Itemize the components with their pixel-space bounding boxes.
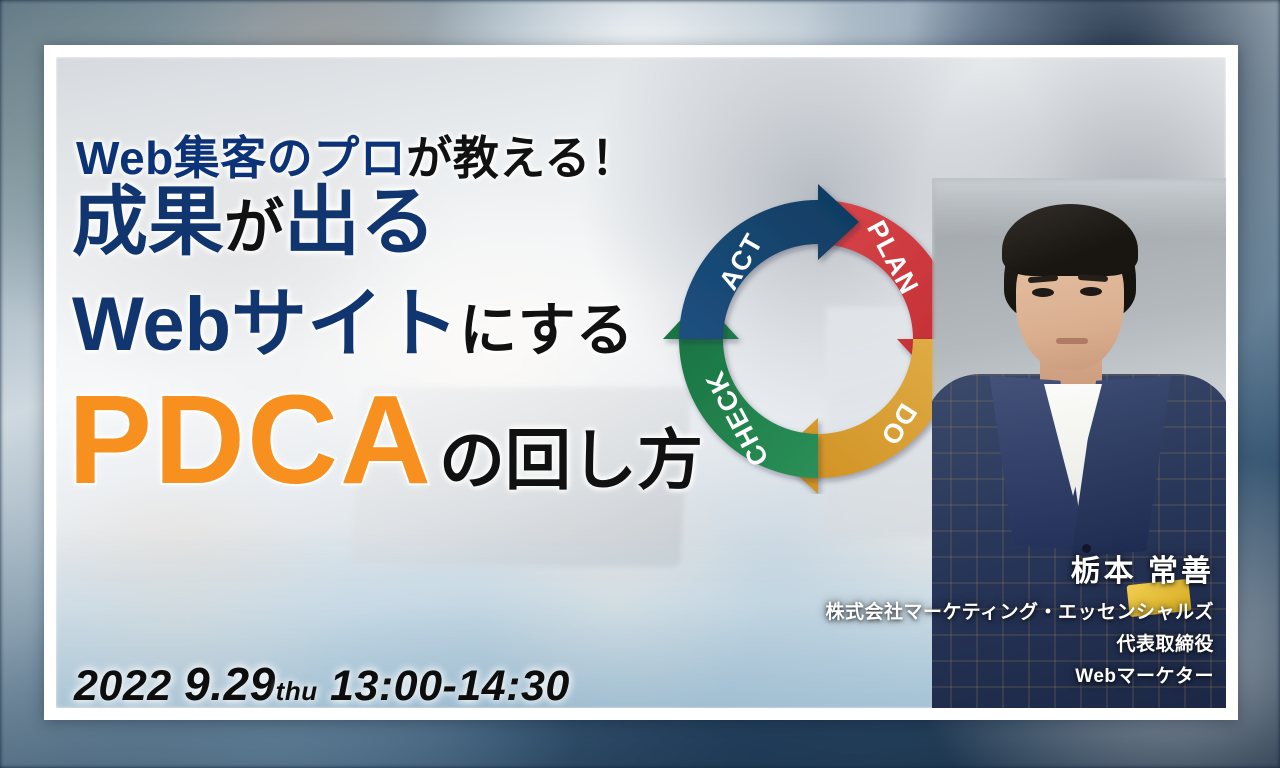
speaker-caption: 栃本 常善 株式会社マーケティング・エッセンシャルズ 代表取締役 Webマーケタ… — [826, 546, 1214, 688]
title-line2-blue2: 出る — [284, 180, 436, 265]
title-line2-blue: 成果 — [72, 180, 224, 265]
pdca-suffix: の回し方 — [439, 423, 703, 497]
date-day-of-week: thu — [276, 676, 318, 706]
title-line2-black: が — [224, 194, 284, 261]
event-date-time: 2022 9.29thu 13:00-14:30 — [74, 657, 570, 708]
title-line3-blue: Webサイト — [72, 282, 459, 367]
date-year: 2022 — [74, 662, 172, 708]
title-line3-black: にする — [459, 298, 634, 363]
title-line-2: 成果が出る — [72, 185, 436, 261]
speaker-eye-right — [1080, 287, 1102, 296]
pdca-keyword: PDCA — [68, 369, 433, 510]
speaker-name: 栃本 常善 — [826, 546, 1214, 590]
speaker-mouth — [1056, 338, 1088, 344]
speaker-role-secondary: Webマーケター — [826, 661, 1214, 688]
title-line-3: Webサイトにする — [72, 287, 634, 363]
date-time-range: 13:00-14:30 — [330, 662, 570, 708]
pdca-segment-act — [679, 184, 859, 339]
pdca-cycle-diagram: PLAN DO CHECK ACT — [663, 184, 973, 494]
catch-copy-blue: Web集客のプロ — [76, 132, 406, 184]
speaker-role: 代表取締役 — [826, 629, 1214, 656]
catch-copy: Web集客のプロが教える！ — [76, 122, 637, 188]
seminar-banner: PLAN DO CHECK ACT Web集客のプロが教える！ 成果が出る We… — [56, 57, 1226, 708]
speaker-company: 株式会社マーケティング・エッセンシャルズ — [826, 597, 1214, 624]
title-line-4: PDCAの回し方 — [68, 377, 703, 503]
catch-copy-black: が教える！ — [406, 132, 637, 184]
date-month-day: 9.29 — [184, 658, 276, 708]
speaker-eye-left — [1032, 288, 1054, 297]
